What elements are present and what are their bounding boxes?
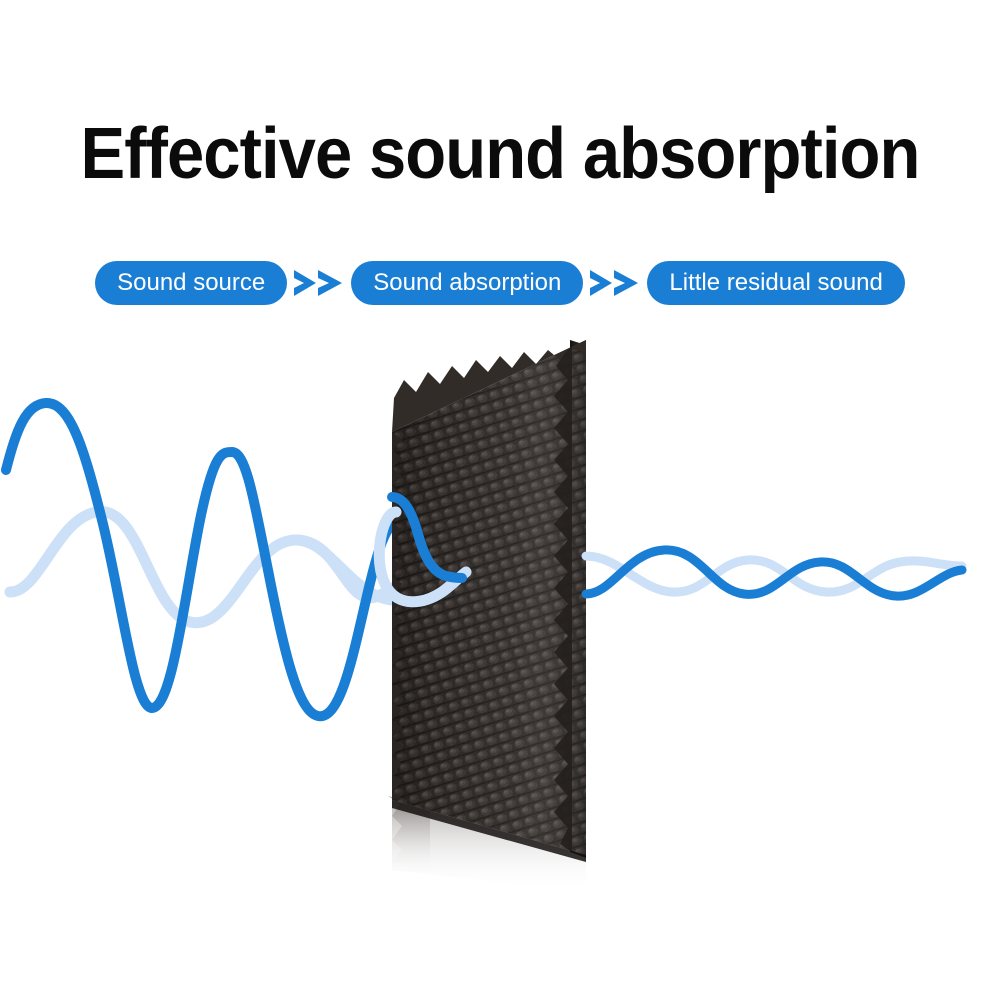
acoustic-foam-panel — [380, 330, 600, 892]
double-chevron-right-icon — [287, 261, 351, 305]
double-chevron-right-icon — [583, 261, 647, 305]
absorption-flow-steps: Sound source Sound absorption Little res… — [0, 259, 1000, 307]
product-feature-graphic: Effective sound absorption Sound source … — [0, 0, 1000, 1000]
flow-step-label: Sound absorption — [373, 269, 561, 297]
flow-step-label: Little residual sound — [669, 269, 882, 297]
flow-step-little-residual-sound[interactable]: Little residual sound — [647, 261, 904, 305]
incoming-strong-wave — [6, 403, 452, 716]
flow-step-sound-absorption[interactable]: Sound absorption — [351, 261, 583, 305]
flow-step-sound-source[interactable]: Sound source — [95, 261, 287, 305]
page-title: Effective sound absorption — [35, 118, 965, 190]
flow-step-label: Sound source — [117, 269, 265, 297]
